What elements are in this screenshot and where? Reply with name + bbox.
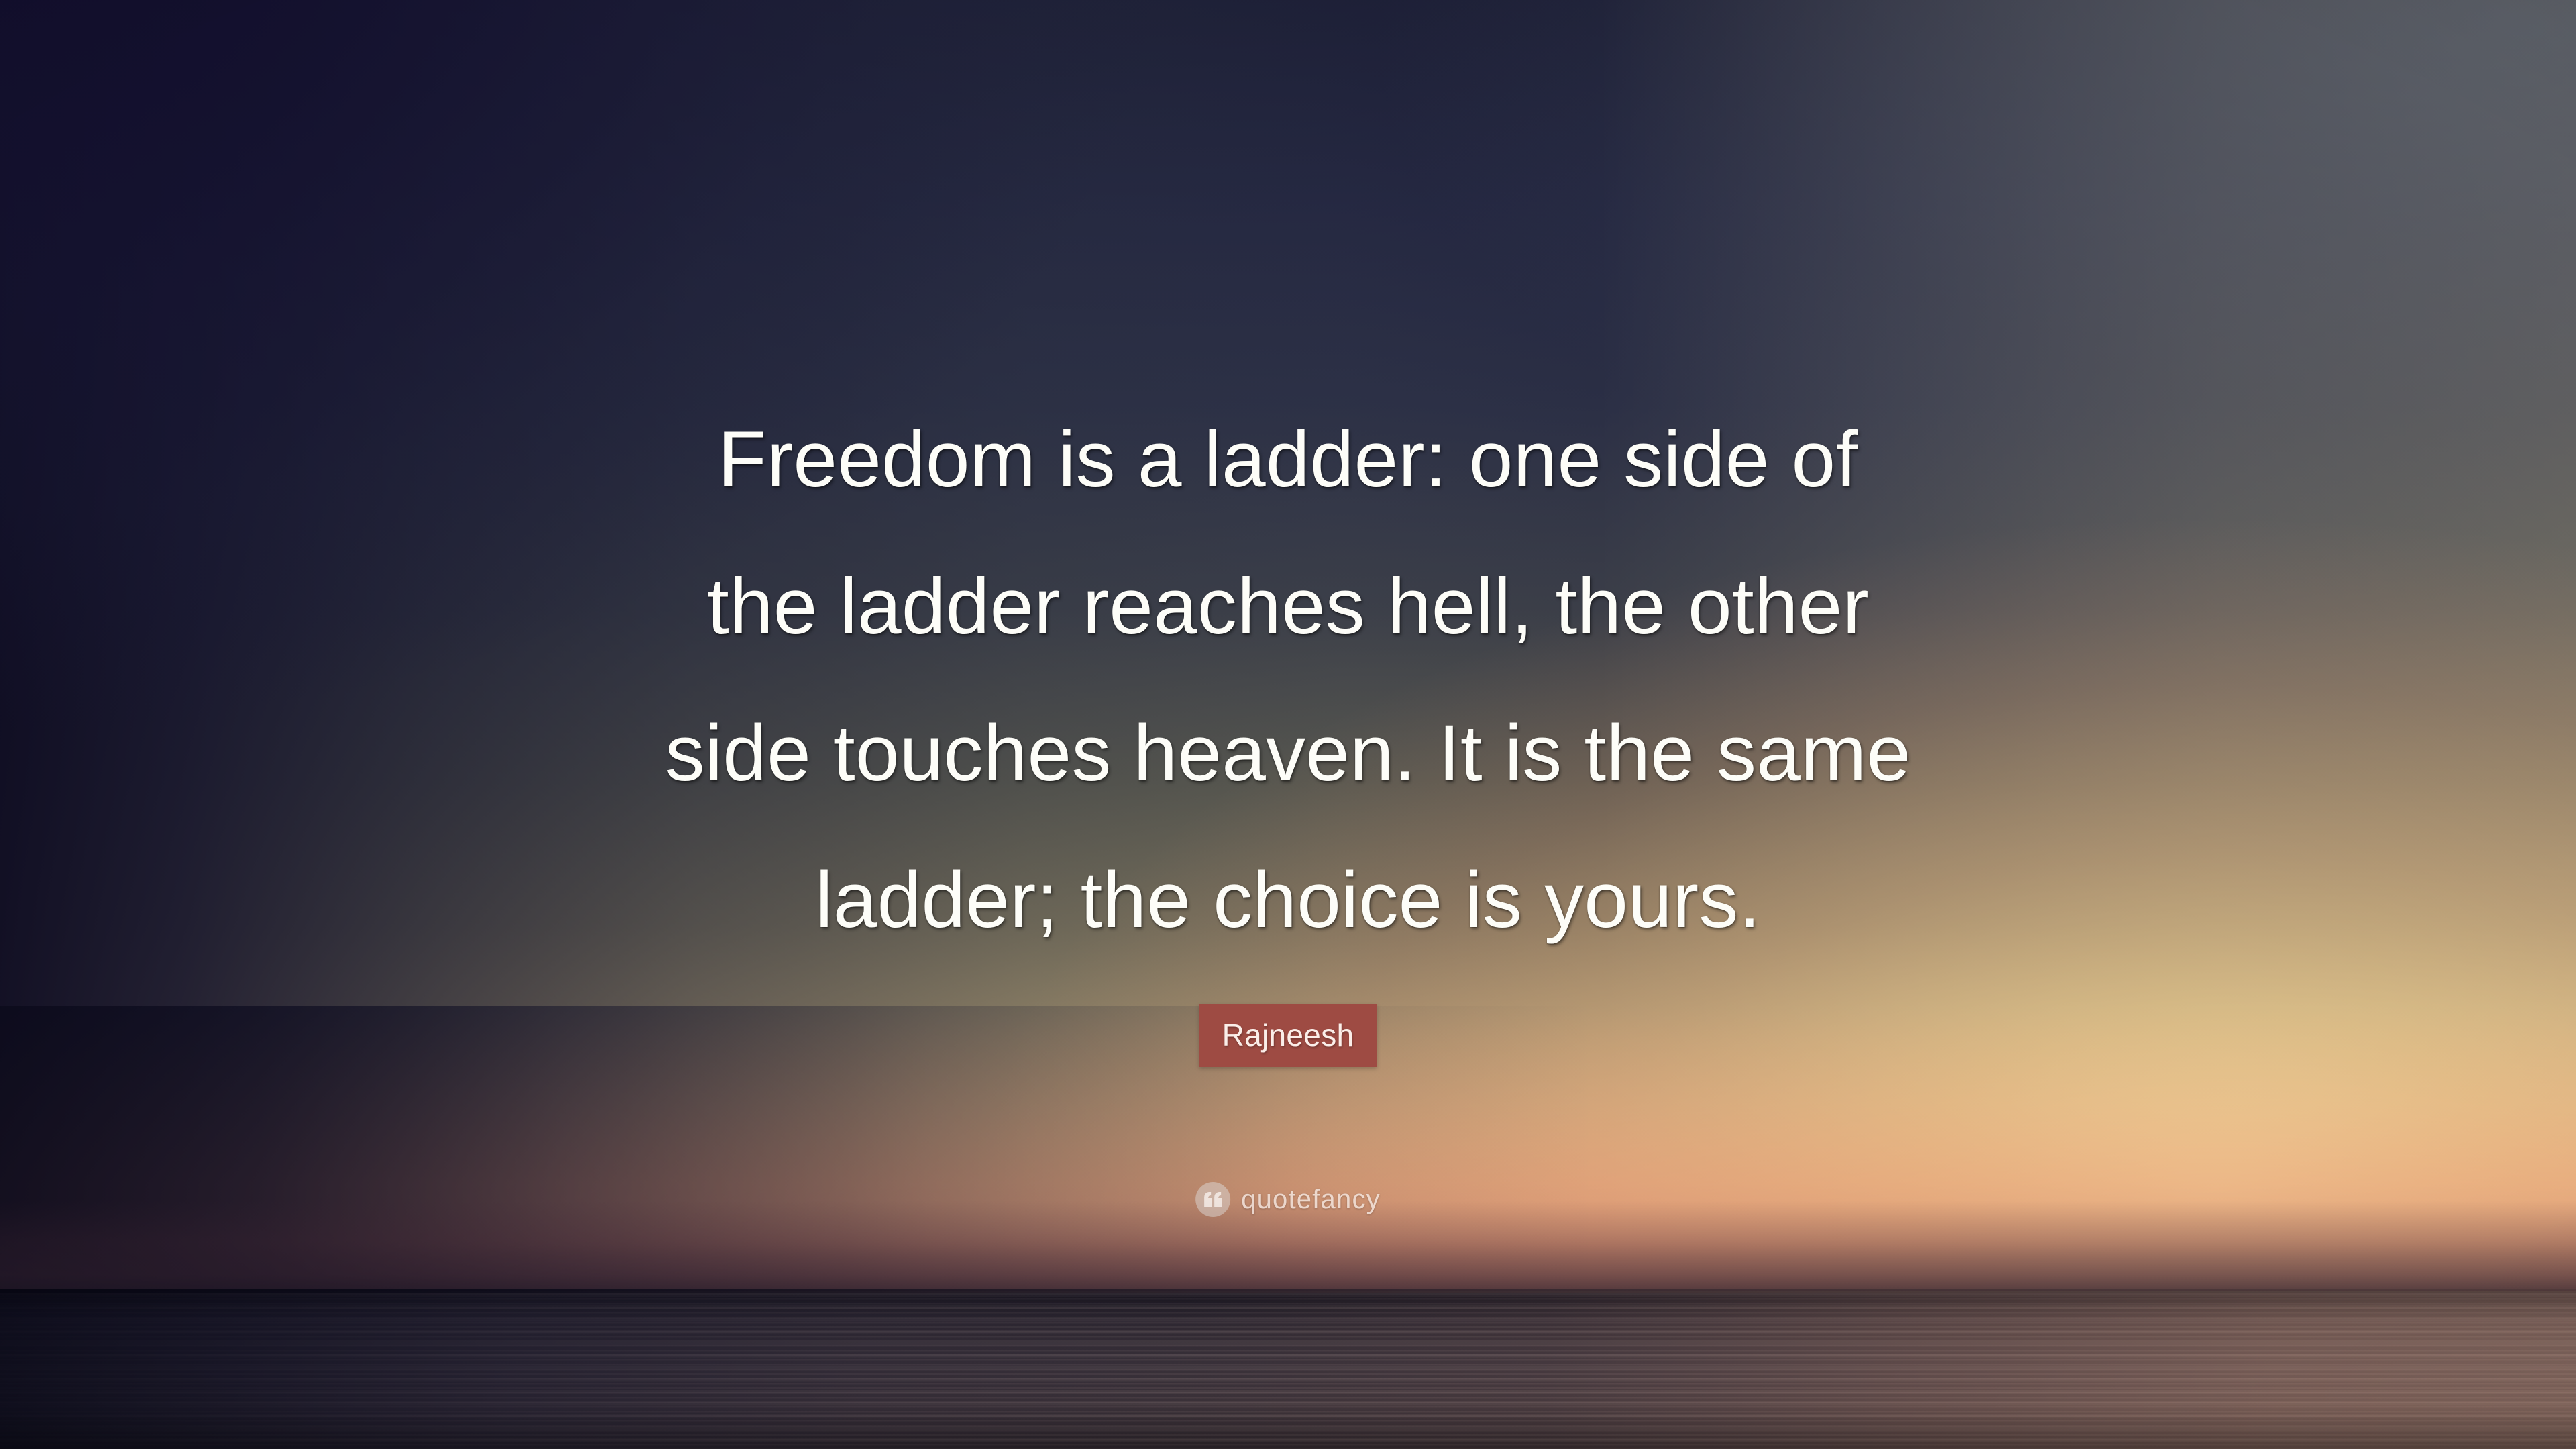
quote-line-4: ladder; the choice is yours.	[550, 827, 2026, 974]
quote-content: Freedom is a ladder: one side of the lad…	[0, 0, 2576, 1449]
quote-image-canvas: Freedom is a ladder: one side of the lad…	[0, 0, 2576, 1449]
quote-line-3: side touches heaven. It is the same	[550, 680, 2026, 827]
quote-line-1: Freedom is a ladder: one side of	[550, 386, 2026, 533]
quote-mark-icon	[1195, 1182, 1230, 1217]
quote-text-block: Freedom is a ladder: one side of the lad…	[550, 386, 2026, 974]
author-badge[interactable]: Rajneesh	[1199, 1004, 1377, 1067]
quotefancy-watermark[interactable]: quotefancy	[1195, 1182, 1381, 1217]
quote-line-2: the ladder reaches hell, the other	[550, 533, 2026, 680]
quotefancy-brand-text: quotefancy	[1241, 1186, 1381, 1213]
